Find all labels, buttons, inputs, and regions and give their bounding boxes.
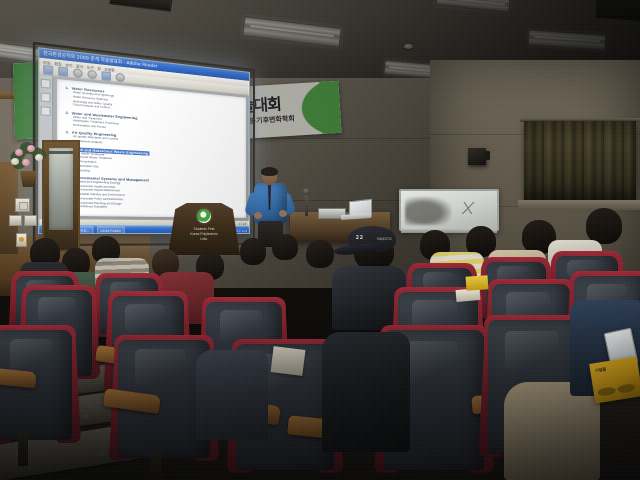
toc-number: 2. [66,110,69,115]
audience-member [504,382,600,480]
print-icon[interactable] [58,67,68,77]
page-indicator: 1 / 24 [239,221,246,225]
pages-icon[interactable] [41,92,51,102]
package-label: 기념품 [595,366,607,374]
ceiling-light [435,0,510,13]
light-switch-plate[interactable] [15,198,30,212]
whiteboard-shadow [405,197,451,225]
audience-member-with-cap: 22 MAJESTIC [348,226,396,270]
audience-member [196,350,268,440]
menu-item-tools[interactable]: 도구 [87,63,94,69]
podium: Students First Korea Polytechnic Univ. [168,203,240,255]
laptop-keyboard [341,213,371,220]
conference-banner-right: 술대회 환경·기후변화학회 [235,81,342,139]
document-page: 1. Water Resources Water Quantity and Hy… [57,79,246,218]
toc-number: 3. [66,130,69,135]
lecture-hall-photo: 2 일시 술대회 환경·기후변화학회 한국환경공학회 2009 춘계 학술발표회… [0,0,640,480]
open-icon[interactable] [43,65,53,75]
laptop-computer [341,200,371,220]
conference-handout [466,275,489,291]
door-window [49,148,73,230]
attachments-icon[interactable] [41,106,51,116]
cap-brand: MAJESTIC [377,237,392,241]
flower-arrangement [8,140,50,190]
university-emblem-icon [197,209,211,223]
podium-line-3: Univ. [168,237,240,242]
banner-graphic [235,81,342,139]
audience-member [322,332,410,452]
taskbar-item[interactable]: Adobe Reader [96,226,124,234]
bookmarks-icon[interactable] [41,79,51,89]
smoke-detector [404,44,413,49]
yellow-package: 기념품 [589,356,640,403]
fire-alarm-box [16,233,27,247]
search-icon[interactable] [116,73,125,83]
package-graphic [597,386,616,397]
ceiling-vent [595,0,640,22]
window-curtain [524,121,636,203]
presenter-hair [261,167,278,176]
toc-number: 1. [66,86,69,91]
whiteboard-marking [459,202,477,214]
presenter-hand-left [254,212,262,219]
whiteboard [399,189,499,231]
baseball-cap: 22 MAJESTIC [348,226,396,252]
cap-number: 22 [356,235,364,241]
microphone [305,192,308,216]
ceiling-light [528,29,607,50]
seat-leg [150,450,161,480]
clock: 오후 2:41 [236,229,247,233]
zoom-in-icon[interactable] [87,70,97,80]
notebook [271,346,306,376]
wall-speaker [468,148,486,165]
wall-outlet[interactable] [9,215,37,226]
ceiling-light [242,16,342,48]
ceiling-vent [109,0,172,12]
podium-label: Students First Korea Polytechnic Univ. [168,227,240,242]
audience-member [586,208,622,244]
audience-member [240,238,266,265]
presenter-hand-right [279,210,287,217]
flower-basket [18,171,38,187]
seat-leg [18,432,28,466]
audience-member [272,234,298,260]
zoom-out-icon[interactable] [73,68,83,78]
audience-member [306,240,334,268]
package-graphic [617,383,636,394]
menu-item-edit[interactable]: 편집 [54,60,61,66]
fit-page-icon[interactable] [102,71,111,81]
menu-item-window[interactable]: 창 [97,65,100,71]
